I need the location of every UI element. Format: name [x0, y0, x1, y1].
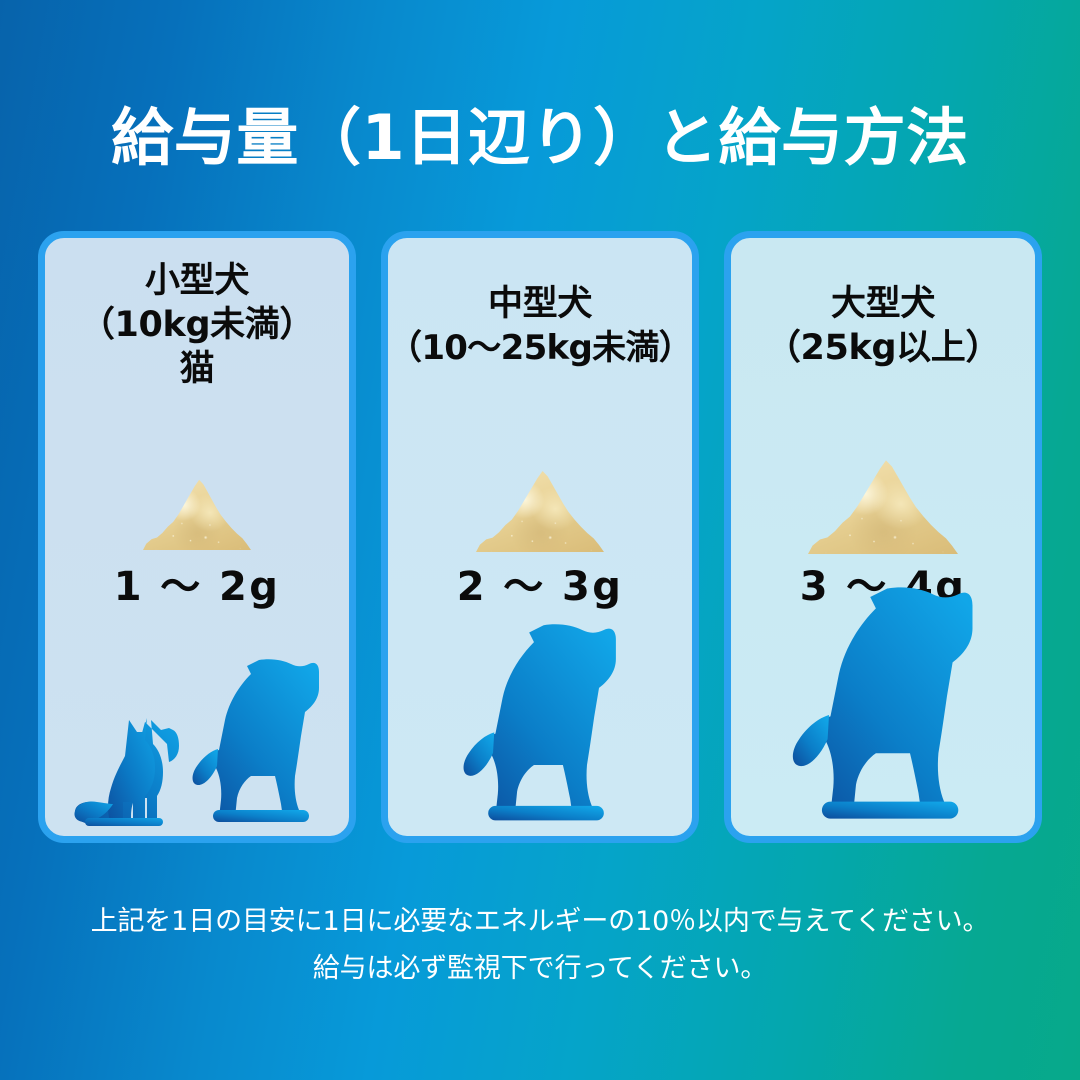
card-large-dog-heading: 大型犬 （25kg以上）	[731, 283, 1035, 371]
dog-silhouette-icon	[191, 654, 321, 830]
card-medium-dog-heading: 中型犬 （10〜25kg未満）	[388, 283, 692, 369]
card-small-dog-animals	[45, 654, 349, 830]
card-large-dog-heading-line2: （25kg以上）	[731, 327, 1035, 371]
powder-pile-icon	[476, 462, 604, 552]
powder-pile-icon	[143, 472, 251, 550]
card-large-dog[interactable]: 大型犬 （25kg以上） 3 〜 4g	[724, 231, 1042, 843]
powder-pile-small-wrap	[45, 450, 349, 550]
cat-silhouette-icon	[73, 704, 187, 830]
card-medium-dog-heading-line2: （10〜25kg未満）	[388, 327, 692, 370]
card-medium-dog-animals	[388, 618, 692, 830]
card-small-dog-amount: 1 〜 2g	[45, 554, 349, 612]
card-large-dog-heading-line1: 大型犬	[731, 283, 1035, 327]
powder-pile-large-wrap	[731, 428, 1035, 554]
card-large-dog-animals	[731, 580, 1035, 830]
card-small-dog[interactable]: 小型犬 （10kg未満） 猫 1 〜 2g	[38, 231, 356, 843]
footer-note-line2: 給与は必ず監視下で行ってください。	[0, 945, 1080, 992]
dog-size-card-row: 小型犬 （10kg未満） 猫 1 〜 2g	[38, 231, 1042, 843]
card-small-dog-heading: 小型犬 （10kg未満） 猫	[45, 260, 349, 391]
dog-silhouette-icon	[456, 618, 624, 830]
card-small-dog-heading-line1: 小型犬	[45, 260, 349, 304]
dog-silhouette-icon	[784, 580, 982, 830]
card-medium-dog-heading-line1: 中型犬	[388, 283, 692, 327]
card-medium-dog[interactable]: 中型犬 （10〜25kg未満） 2 〜 3g	[381, 231, 699, 843]
footer-note-line1: 上記を1日の目安に1日に必要なエネルギーの10％以内で与えてください。	[0, 898, 1080, 945]
card-small-dog-heading-line2: （10kg未満）	[45, 304, 349, 348]
powder-pile-medium-wrap	[388, 440, 692, 552]
powder-pile-icon	[808, 450, 958, 554]
page-title: 給与量（1日辺り）と給与方法	[0, 104, 1080, 172]
card-medium-dog-amount: 2 〜 3g	[388, 554, 692, 612]
feeding-guide-poster: 給与量（1日辺り）と給与方法 小型犬 （10kg未満） 猫 1 〜 2g	[0, 0, 1080, 1080]
card-small-dog-heading-line3: 猫	[45, 348, 349, 392]
footer-note: 上記を1日の目安に1日に必要なエネルギーの10％以内で与えてください。 給与は必…	[0, 898, 1080, 993]
